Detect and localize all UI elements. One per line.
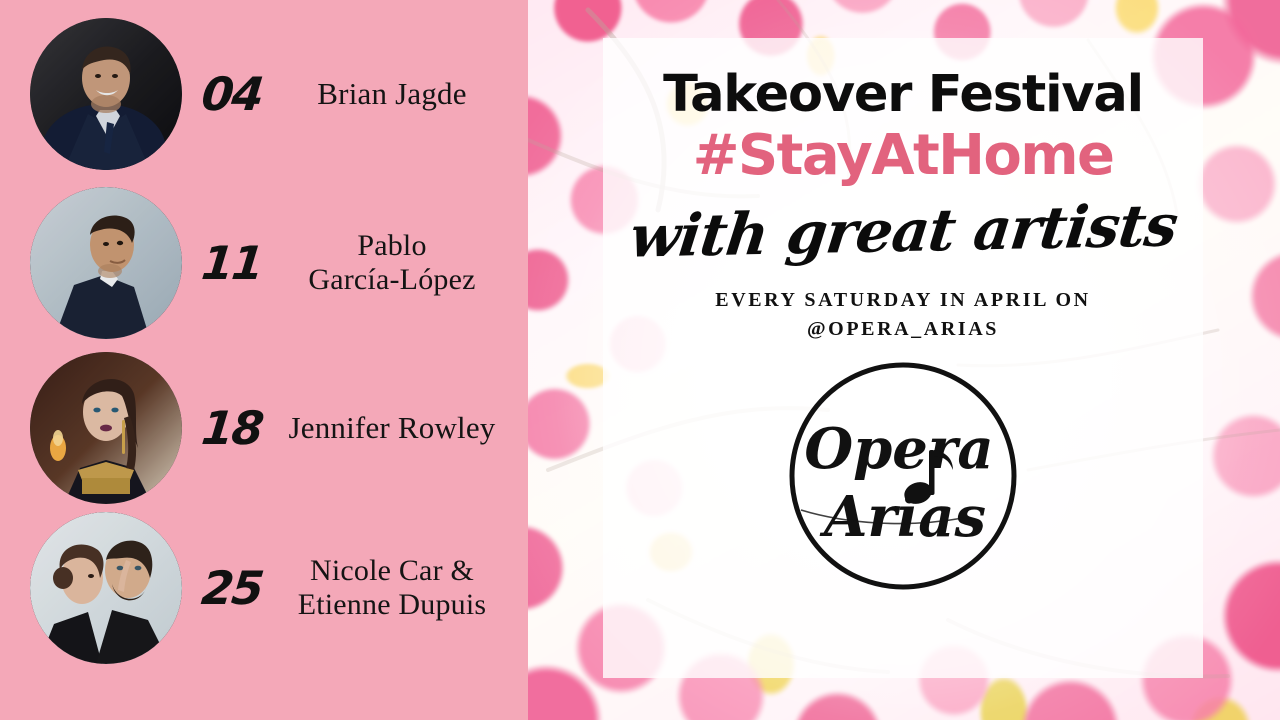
poster-canvas: Takeover Festival #StayAtHome with great… xyxy=(0,0,1280,720)
avatar xyxy=(30,18,182,170)
poster-hashtag: #StayAtHome xyxy=(693,126,1114,186)
artist-name-line: Nicole Car & xyxy=(310,554,474,587)
artist-name-line: Brian Jagde xyxy=(317,76,466,111)
list-item[interactable]: 18 Jennifer Rowley xyxy=(0,348,528,508)
artist-name: Brian Jagde xyxy=(278,77,528,112)
list-item[interactable]: 11 Pablo García-López xyxy=(0,183,528,343)
poster-title: Takeover Festival xyxy=(663,68,1143,122)
avatar xyxy=(30,187,182,339)
day-number: 18 xyxy=(184,405,281,451)
festival-poster: Takeover Festival #StayAtHome with great… xyxy=(528,0,1280,720)
artist-name-line: García-López xyxy=(308,263,475,296)
list-item[interactable]: 25 Nicole Car & Etienne Dupuis xyxy=(0,508,528,668)
logo-word-opera: Opera xyxy=(804,416,993,482)
avatar xyxy=(30,352,182,504)
avatar xyxy=(30,512,182,664)
schedule-line-1: EVERY SATURDAY IN APRIL ON xyxy=(715,289,1090,311)
portrait-brian-jagde-icon xyxy=(30,18,182,170)
schedule-handle: @OPERA_ARIAS xyxy=(715,315,1090,344)
logo-word-arias: Arias xyxy=(819,484,986,550)
artist-name: Jennifer Rowley xyxy=(278,411,528,446)
artist-name-line: Jennifer Rowley xyxy=(288,410,495,445)
portrait-pablo-garcia-lopez-icon xyxy=(30,187,182,339)
artist-lineup-list: 04 Brian Jagde xyxy=(0,0,528,720)
artist-name-line: Etienne Dupuis xyxy=(298,588,487,621)
poster-script-line: with great artists xyxy=(626,194,1180,269)
artist-name-line: Pablo xyxy=(357,229,426,262)
portrait-jennifer-rowley-icon xyxy=(30,352,182,504)
day-number: 25 xyxy=(184,565,281,611)
opera-arias-logo: Opera Arias xyxy=(787,360,1019,592)
list-item[interactable]: 04 Brian Jagde xyxy=(0,14,528,174)
artist-name: Nicole Car & Etienne Dupuis xyxy=(278,554,528,621)
opera-arias-logo-icon: Opera Arias xyxy=(787,360,1019,592)
artist-name: Pablo García-López xyxy=(278,229,528,296)
poster-schedule: EVERY SATURDAY IN APRIL ON @OPERA_ARIAS xyxy=(715,286,1090,344)
day-number: 11 xyxy=(184,240,281,286)
day-number: 04 xyxy=(184,71,281,117)
portrait-nicole-car-etienne-dupuis-icon xyxy=(30,512,182,664)
lineup-panel: 04 Brian Jagde xyxy=(0,0,528,720)
poster-text-card: Takeover Festival #StayAtHome with great… xyxy=(603,38,1203,678)
